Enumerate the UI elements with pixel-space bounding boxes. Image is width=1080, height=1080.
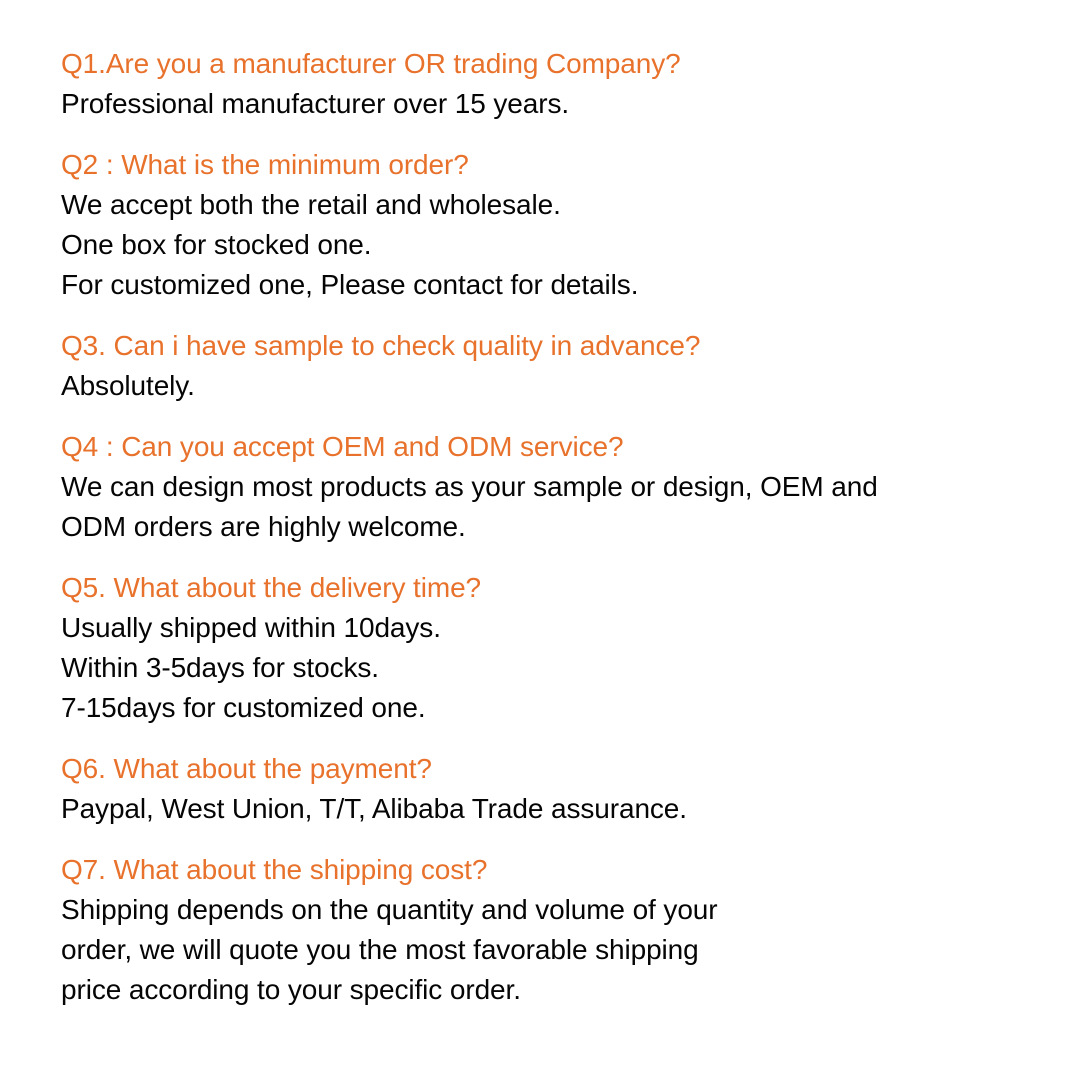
faq-question: Q5. What about the delivery time? xyxy=(61,568,1040,608)
faq-answer-line: We can design most products as your samp… xyxy=(61,467,1040,507)
faq-item: Q2 : What is the minimum order?We accept… xyxy=(61,145,1040,305)
faq-answer-line: For customized one, Please contact for d… xyxy=(61,265,1040,305)
faq-item: Q6. What about the payment?Paypal, West … xyxy=(61,749,1040,829)
faq-answer-line: ODM orders are highly welcome. xyxy=(61,507,1040,547)
faq-answer-line: Paypal, West Union, T/T, Alibaba Trade a… xyxy=(61,789,1040,829)
faq-item: Q4 : Can you accept OEM and ODM service?… xyxy=(61,427,1040,547)
faq-answer-line: 7-15days for customized one. xyxy=(61,688,1040,728)
faq-answer-line: Professional manufacturer over 15 years. xyxy=(61,84,1040,124)
faq-item: Q7. What about the shipping cost?Shippin… xyxy=(61,850,1040,1010)
faq-answer-line: We accept both the retail and wholesale. xyxy=(61,185,1040,225)
faq-question: Q2 : What is the minimum order? xyxy=(61,145,1040,185)
faq-answer-line: order, we will quote you the most favora… xyxy=(61,930,1040,970)
faq-answer-line: Absolutely. xyxy=(61,366,1040,406)
faq-item: Q3. Can i have sample to check quality i… xyxy=(61,326,1040,406)
faq-question: Q4 : Can you accept OEM and ODM service? xyxy=(61,427,1040,467)
faq-item: Q5. What about the delivery time?Usually… xyxy=(61,568,1040,728)
faq-question: Q7. What about the shipping cost? xyxy=(61,850,1040,890)
faq-answer-line: price according to your specific order. xyxy=(61,970,1040,1010)
faq-item: Q1.Are you a manufacturer OR trading Com… xyxy=(61,44,1040,124)
faq-document: Q1.Are you a manufacturer OR trading Com… xyxy=(0,0,1080,1080)
faq-answer-line: Within 3-5days for stocks. xyxy=(61,648,1040,688)
faq-question: Q1.Are you a manufacturer OR trading Com… xyxy=(61,44,1040,84)
faq-answer-line: One box for stocked one. xyxy=(61,225,1040,265)
faq-question: Q3. Can i have sample to check quality i… xyxy=(61,326,1040,366)
faq-answer-line: Usually shipped within 10days. xyxy=(61,608,1040,648)
faq-answer-line: Shipping depends on the quantity and vol… xyxy=(61,890,1040,930)
faq-question: Q6. What about the payment? xyxy=(61,749,1040,789)
